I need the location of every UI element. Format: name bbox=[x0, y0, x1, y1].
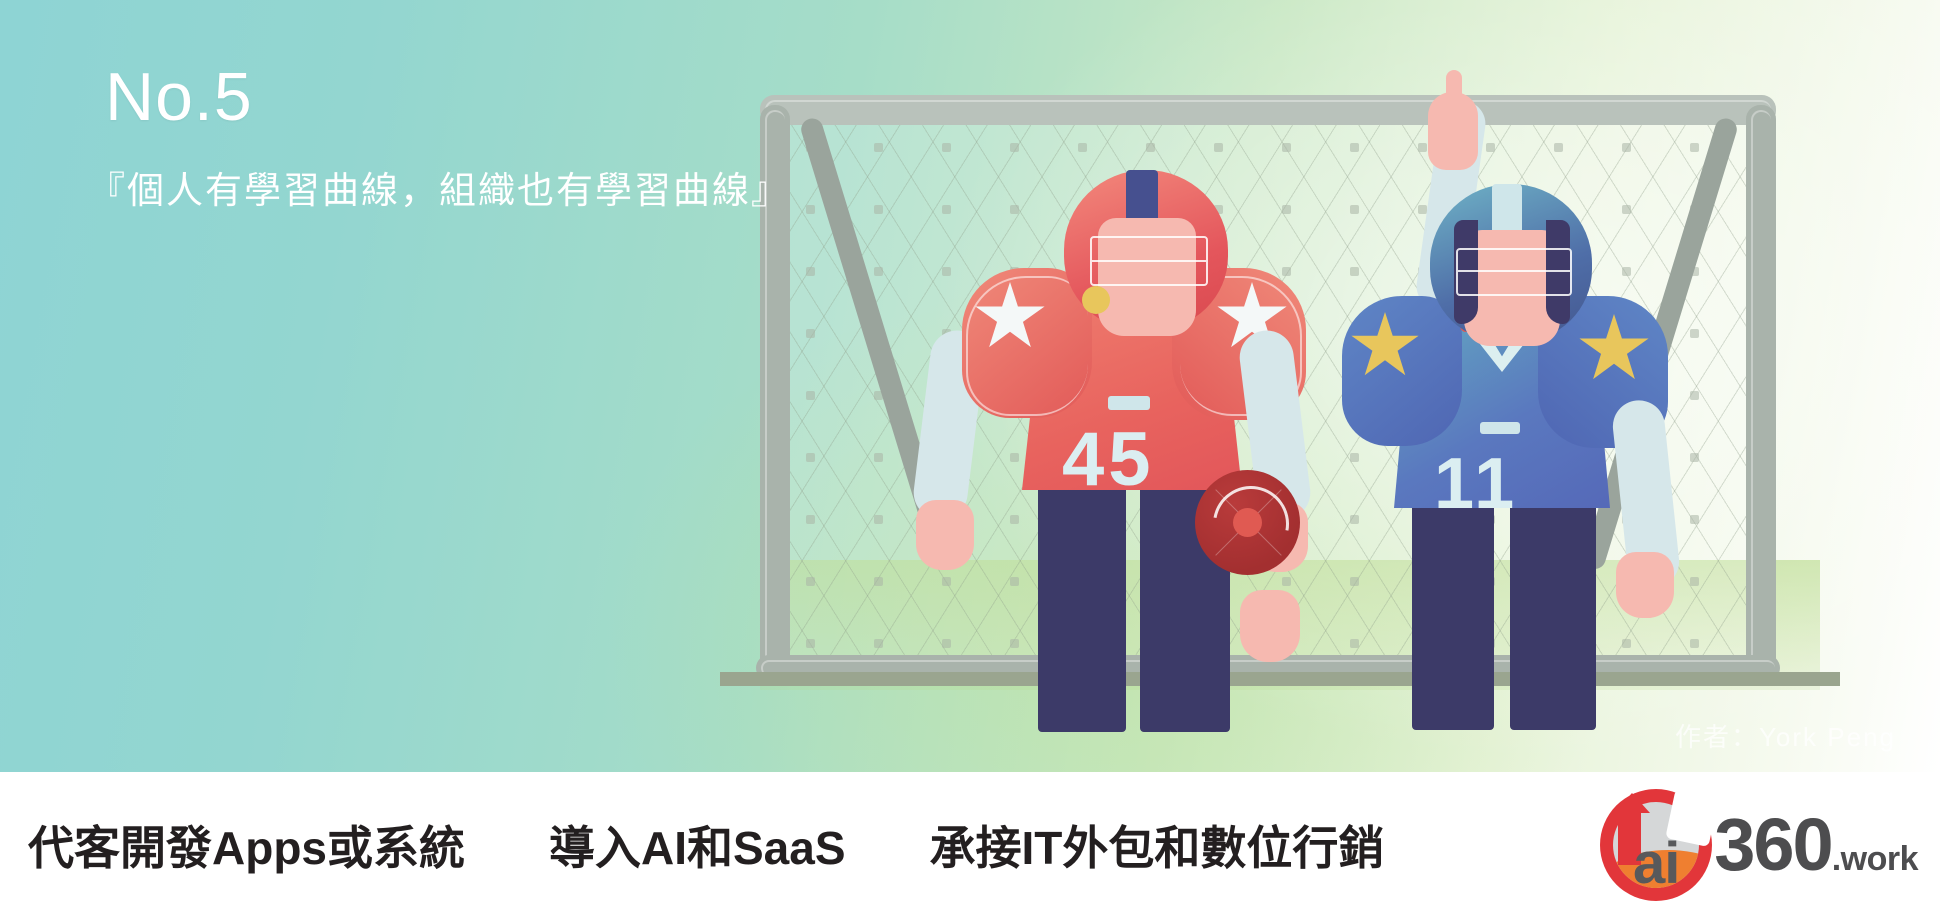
red-player-ear-guard-left bbox=[1082, 286, 1110, 314]
blue-player: 11 bbox=[1320, 100, 1740, 730]
red-player-left-leg bbox=[1038, 470, 1126, 732]
net-node bbox=[806, 577, 815, 586]
blue-player-facemask bbox=[1456, 248, 1572, 296]
ai360-logo[interactable]: ai 360 .work bbox=[1600, 789, 1940, 901]
logo-suffix-text: .work bbox=[1832, 842, 1918, 876]
logo-badge-text: ai bbox=[1600, 835, 1712, 893]
net-node bbox=[1010, 143, 1019, 152]
net-node bbox=[1078, 143, 1087, 152]
page-title: No.5 bbox=[105, 63, 253, 131]
net-node bbox=[942, 205, 951, 214]
blue-player-right-hand bbox=[1616, 552, 1674, 618]
author-credit: 作者：York Peng bbox=[1675, 717, 1896, 754]
net-node bbox=[806, 453, 815, 462]
blue-player-jersey-tab bbox=[1480, 422, 1520, 434]
red-player-jersey-tab bbox=[1108, 396, 1150, 410]
net-node bbox=[1282, 143, 1291, 152]
blue-player-jersey-number: 11 bbox=[1434, 448, 1518, 520]
net-node bbox=[874, 577, 883, 586]
net-node bbox=[806, 267, 815, 276]
footer-slogan-1: 代客開發Apps或系統 bbox=[28, 812, 465, 878]
net-node bbox=[874, 205, 883, 214]
football-ball bbox=[1195, 470, 1300, 575]
net-node bbox=[806, 205, 815, 214]
red-player-lower-hand bbox=[1240, 590, 1300, 662]
net-node bbox=[942, 577, 951, 586]
red-player-facemask bbox=[1090, 236, 1208, 286]
footer-bar: 代客開發Apps或系統 導入AI和SaaS 承接IT外包和數位行銷 ai 360… bbox=[0, 772, 1940, 918]
net-node bbox=[874, 143, 883, 152]
net-node bbox=[806, 515, 815, 524]
blue-player-right-leg bbox=[1510, 470, 1596, 730]
net-node bbox=[874, 639, 883, 648]
logo-wordmark: 360 .work bbox=[1714, 808, 1918, 882]
hero-illustration-panel: 11 bbox=[0, 0, 1940, 772]
net-node bbox=[942, 639, 951, 648]
net-node bbox=[1214, 143, 1223, 152]
footer-slogan-3: 承接IT外包和數位行銷 bbox=[930, 812, 1385, 878]
logo-badge-icon: ai bbox=[1600, 789, 1712, 901]
net-node bbox=[806, 639, 815, 648]
blue-player-index-finger bbox=[1446, 70, 1462, 114]
red-player-left-pad-seam bbox=[966, 276, 1088, 416]
red-player-left-hand bbox=[916, 500, 974, 570]
net-node bbox=[874, 453, 883, 462]
net-node bbox=[806, 391, 815, 400]
net-node bbox=[874, 267, 883, 276]
red-player-jersey-number: 45 bbox=[1062, 422, 1155, 498]
net-node bbox=[942, 267, 951, 276]
footer-slogan-list: 代客開發Apps或系統 導入AI和SaaS 承接IT外包和數位行銷 bbox=[0, 812, 1600, 878]
red-player: 45 bbox=[960, 170, 1360, 730]
goal-post-right bbox=[1746, 105, 1776, 681]
net-node bbox=[942, 143, 951, 152]
net-node bbox=[1146, 143, 1155, 152]
footer-slogan-2: 導入AI和SaaS bbox=[549, 812, 846, 878]
slide-canvas: 11 bbox=[0, 0, 1940, 918]
logo-main-text: 360 bbox=[1714, 808, 1831, 882]
net-node bbox=[874, 515, 883, 524]
page-subtitle: 『個人有學習曲線，組織也有學習曲線』 bbox=[88, 160, 790, 214]
net-node bbox=[806, 329, 815, 338]
